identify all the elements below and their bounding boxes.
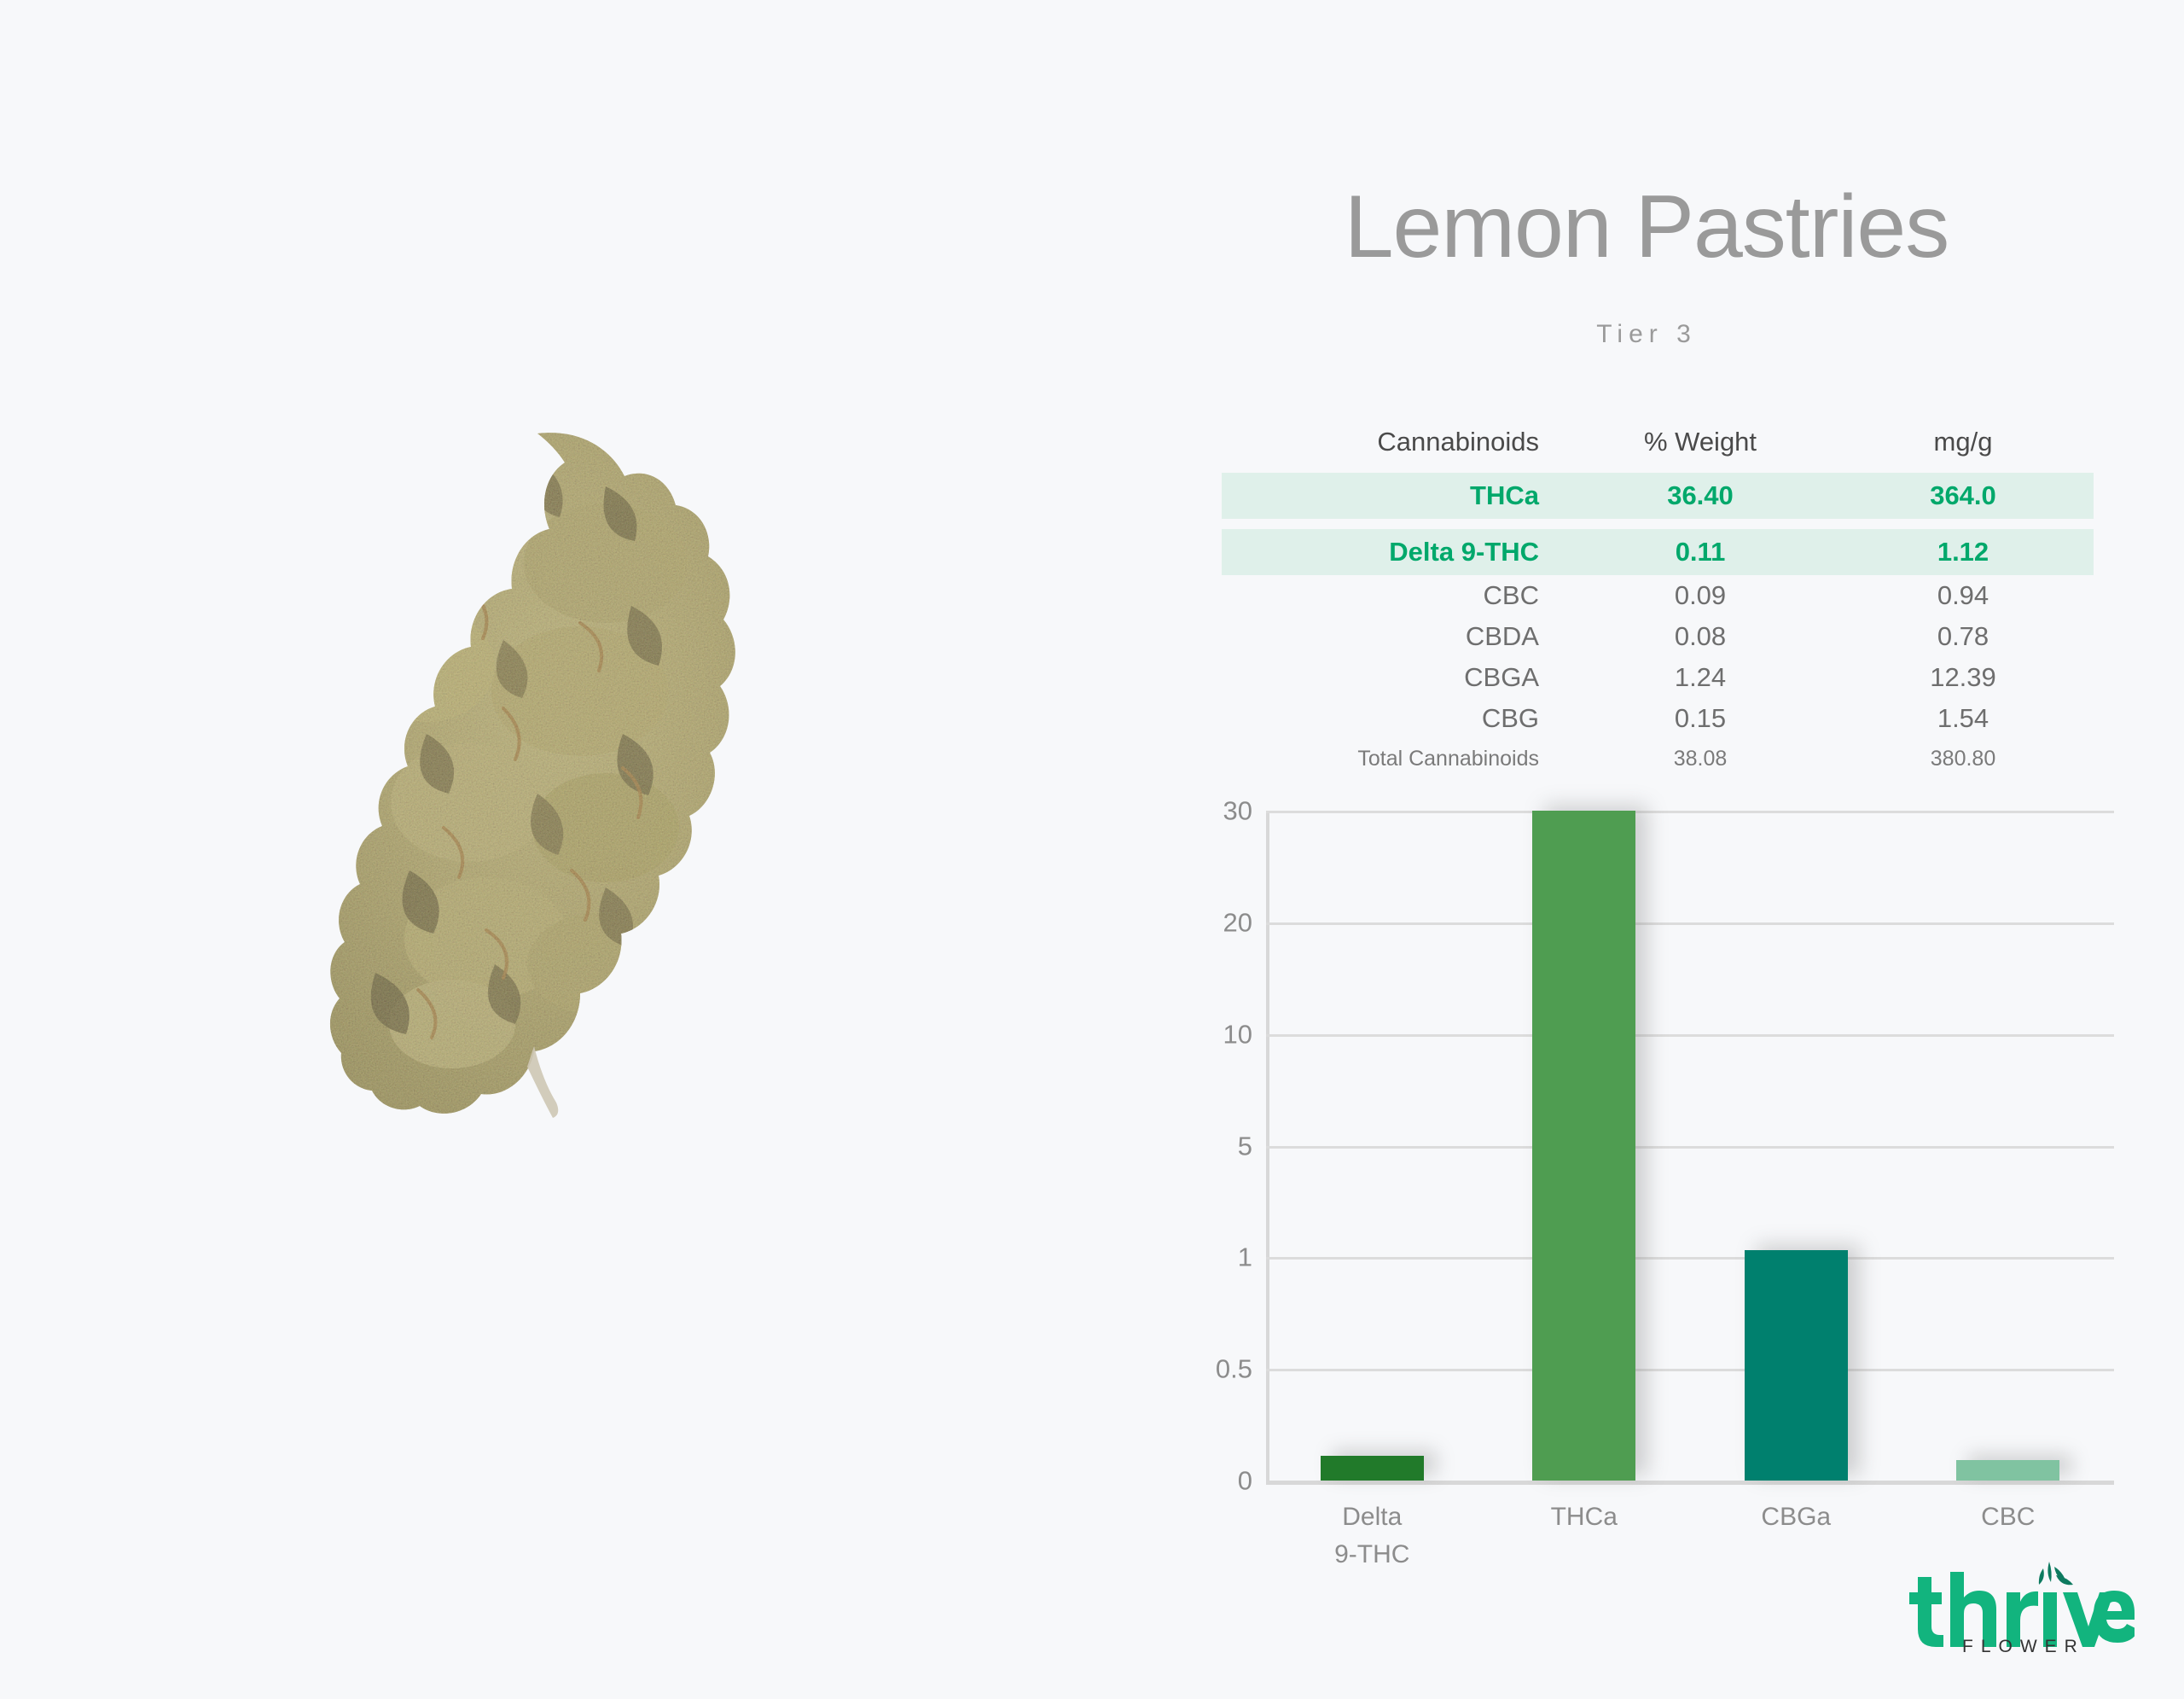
product-label-page: Lemon Pastries Tier 3 Cannabinoids % Wei… <box>0 0 2184 1699</box>
product-photo-pane <box>0 0 1169 1699</box>
table-header-row: Cannabinoids % Weight mg/g <box>1222 427 2094 473</box>
chart-y-tick-label: 0.5 <box>1216 1356 1252 1382</box>
chart-y-tick-label: 30 <box>1223 798 1252 824</box>
cell-percent: 0.09 <box>1568 575 1833 616</box>
column-header-mgg: mg/g <box>1833 427 2094 473</box>
cell-name: CBGA <box>1222 657 1568 698</box>
cell-name: CBG <box>1222 698 1568 739</box>
chart-plot-area <box>1266 811 2114 1485</box>
column-header-percent: % Weight <box>1568 427 1833 473</box>
chart-y-axis: 302010510.50 <box>1169 811 1259 1485</box>
cell-total-mgg: 380.80 <box>1833 739 2094 778</box>
product-info-pane: Lemon Pastries Tier 3 Cannabinoids % Wei… <box>1169 0 2184 1699</box>
cell-name: CBC <box>1222 575 1568 616</box>
cell-mgg: 0.78 <box>1833 616 2094 657</box>
chart-y-tick-label: 0 <box>1238 1468 1252 1494</box>
cell-mgg: 1.54 <box>1833 698 2094 739</box>
table-total-row: Total Cannabinoids 38.08 380.80 <box>1222 739 2094 778</box>
chart-bars <box>1266 811 2114 1481</box>
cell-percent: 0.11 <box>1568 529 1833 575</box>
product-image <box>324 427 802 1126</box>
table-row: CBG 0.15 1.54 <box>1222 698 2094 739</box>
cell-total-percent: 38.08 <box>1568 739 1833 778</box>
cell-percent: 0.15 <box>1568 698 1833 739</box>
chart-y-tick-label: 10 <box>1223 1021 1252 1047</box>
cell-percent: 36.40 <box>1568 473 1833 519</box>
cell-percent: 1.24 <box>1568 657 1833 698</box>
table-row: THCa 36.40 364.0 <box>1222 473 2094 519</box>
chart-y-tick-label: 1 <box>1238 1244 1252 1271</box>
table-row: CBC 0.09 0.94 <box>1222 575 2094 616</box>
cannabis-bud-photo <box>324 427 802 1126</box>
chart-bar <box>1745 1250 1848 1481</box>
cell-name: THCa <box>1222 473 1568 519</box>
cell-mgg: 1.12 <box>1833 529 2094 575</box>
cannabinoid-bar-chart: 302010510.50 Delta9-THCTHCaCBGaCBC <box>1169 811 2124 1579</box>
svg-text:FLOWER: FLOWER <box>1962 1637 2085 1656</box>
cell-name: CBDA <box>1222 616 1568 657</box>
table-row: Delta 9-THC 0.11 1.12 <box>1222 529 2094 575</box>
cell-mgg: 364.0 <box>1833 473 2094 519</box>
product-tier: Tier 3 <box>1169 320 2124 349</box>
cannabinoid-table: Cannabinoids % Weight mg/g THCa 36.40 36… <box>1222 427 2094 778</box>
cell-total-label: Total Cannabinoids <box>1222 739 1568 778</box>
table-row: CBDA 0.08 0.78 <box>1222 616 2094 657</box>
cell-mgg: 12.39 <box>1833 657 2094 698</box>
chart-x-tick-label: CBC <box>1981 1498 2035 1536</box>
chart-x-tick-label: THCa <box>1551 1498 1618 1536</box>
cell-percent: 0.08 <box>1568 616 1833 657</box>
column-header-cannabinoids: Cannabinoids <box>1222 427 1568 473</box>
chart-x-tick-label: CBGa <box>1761 1498 1831 1536</box>
cell-name: Delta 9-THC <box>1222 529 1568 575</box>
chart-y-tick-label: 20 <box>1223 909 1252 935</box>
table-row-spacer <box>1222 519 2094 529</box>
chart-bar <box>1956 1460 2059 1481</box>
chart-bar <box>1532 811 1635 1481</box>
chart-bar <box>1321 1456 1424 1481</box>
page-title: Lemon Pastries <box>1169 181 2124 274</box>
chart-y-tick-label: 5 <box>1238 1132 1252 1159</box>
chart-x-tick-label: Delta9-THC <box>1334 1498 1409 1574</box>
thrive-flower-logo: FLOWER <box>1904 1555 2135 1657</box>
cell-mgg: 0.94 <box>1833 575 2094 616</box>
chart-baseline <box>1266 1481 2114 1485</box>
table-row: CBGA 1.24 12.39 <box>1222 657 2094 698</box>
